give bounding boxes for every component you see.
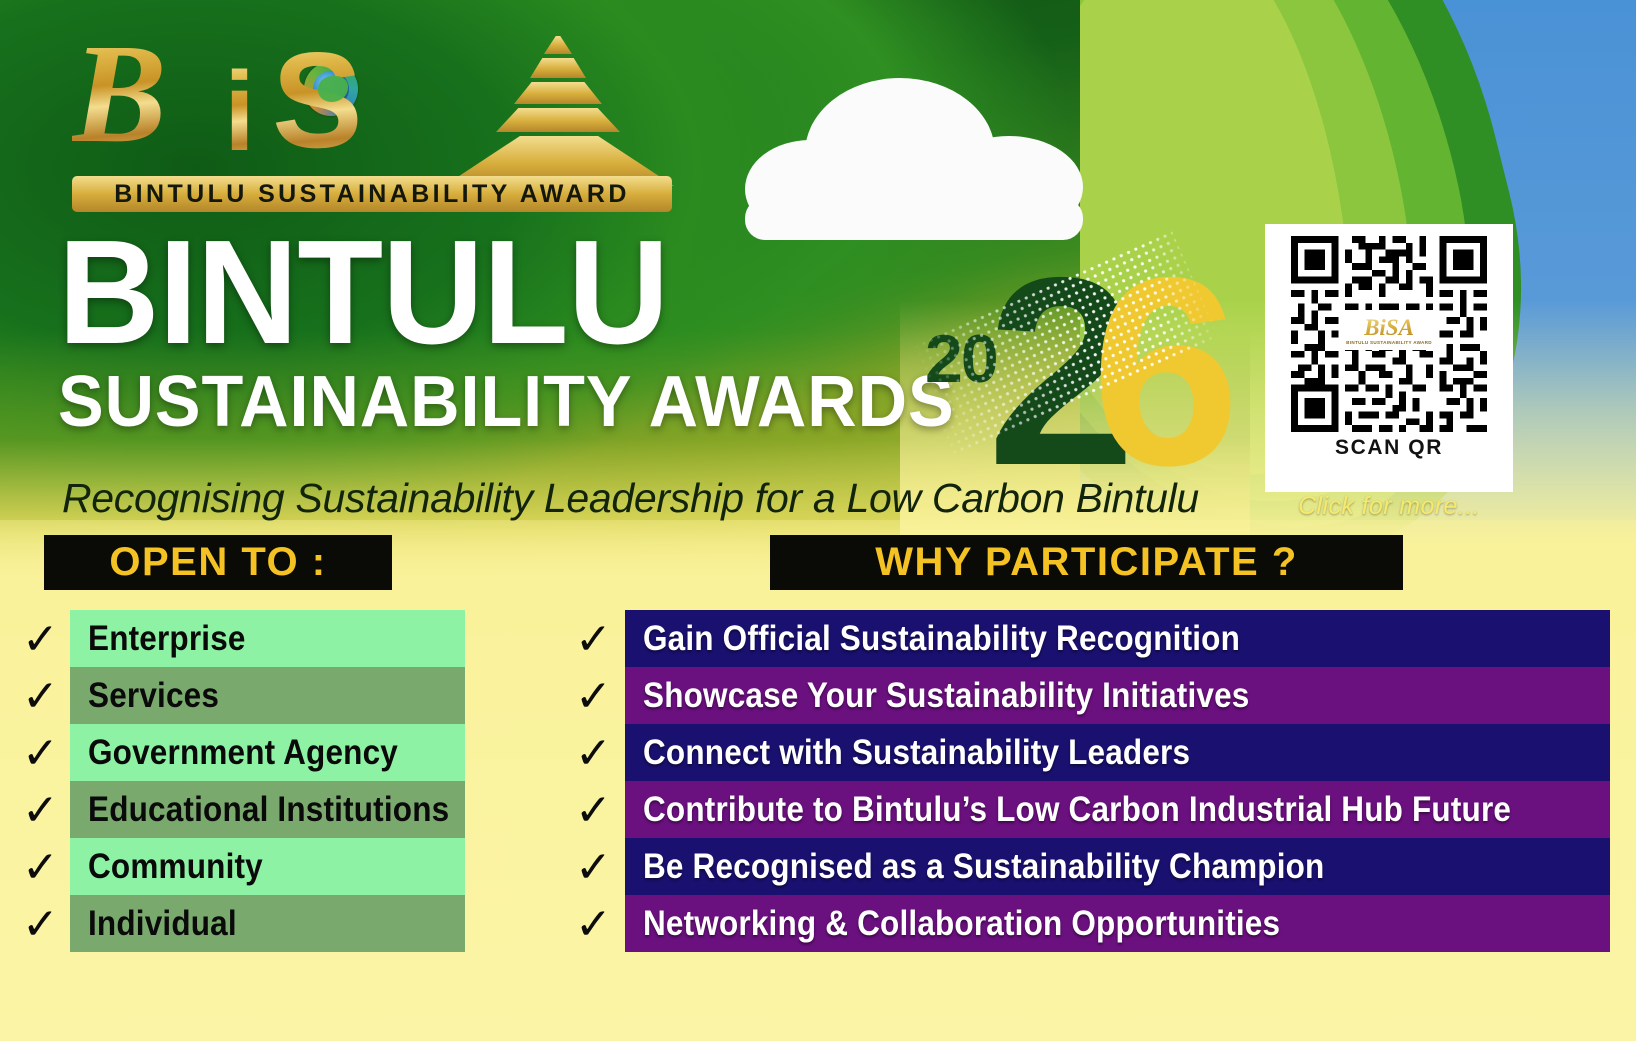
why-participate-item-label: Connect with Sustainability Leaders (643, 733, 1190, 773)
list-item: ✓Community (70, 838, 465, 895)
why-participate-item-label: Gain Official Sustainability Recognition (643, 619, 1240, 659)
list-item: ✓Gain Official Sustainability Recognitio… (625, 610, 1610, 667)
list-item: ✓Be Recognised as a Sustainability Champ… (625, 838, 1610, 895)
open-to-item-label: Educational Institutions (88, 790, 449, 830)
check-icon: ✓ (575, 846, 612, 890)
why-participate-header-bar: WHY PARTICIPATE ? (770, 535, 1403, 590)
logo-letter-s: S (272, 32, 363, 168)
open-to-item-label: Community (88, 847, 263, 887)
why-participate-list: ✓Gain Official Sustainability Recognitio… (625, 610, 1610, 952)
check-icon: ✓ (22, 789, 59, 833)
headline-block: BINTULU SUSTAINABILITY AWARDS Recognisin… (58, 228, 1018, 438)
qr-code-image[interactable]: BiSA BINTULU SUSTAINABILITY AWARD (1286, 236, 1492, 432)
why-participate-item-label: Showcase Your Sustainability Initiatives (643, 676, 1249, 716)
check-icon: ✓ (22, 675, 59, 719)
list-item: ✓Showcase Your Sustainability Initiative… (625, 667, 1610, 724)
poster-root: B i S BINTULU SUSTAINABILITY AWARD BINTU… (0, 0, 1636, 1041)
list-item: ✓Networking & Collaboration Opportunitie… (625, 895, 1610, 952)
open-to-item-label: Individual (88, 904, 237, 944)
list-item: ✓Government Agency (70, 724, 465, 781)
qr-embedded-logo: BiSA BINTULU SUSTAINABILITY AWARD (1343, 310, 1435, 350)
check-icon: ✓ (575, 903, 612, 947)
qr-logo-text: BiSA (1364, 316, 1414, 339)
why-participate-item-label: Networking & Collaboration Opportunities (643, 904, 1280, 944)
cloud-icon (745, 78, 1075, 238)
logo-wordmark-text: BINTULU SUSTAINABILITY AWARD (114, 180, 630, 209)
check-icon: ✓ (575, 789, 612, 833)
logo-letter-b: B (72, 22, 167, 164)
check-icon: ✓ (575, 675, 612, 719)
qr-card[interactable]: BiSA BINTULU SUSTAINABILITY AWARD SCAN Q… (1265, 224, 1513, 492)
why-participate-item-label: Be Recognised as a Sustainability Champi… (643, 847, 1324, 887)
list-item: ✓Individual (70, 895, 465, 952)
list-item: ✓Enterprise (70, 610, 465, 667)
why-participate-header-text: WHY PARTICIPATE ? (875, 540, 1298, 585)
year-prefix: 20 (925, 320, 997, 398)
check-icon: ✓ (22, 732, 59, 776)
list-item: ✓Connect with Sustainability Leaders (625, 724, 1610, 781)
logo-letter-i: i (224, 56, 255, 168)
click-for-more-link[interactable]: Click for more... (1265, 492, 1513, 521)
check-icon: ✓ (22, 618, 59, 662)
year-digit-six: 6 (1091, 237, 1240, 505)
bisa-logo-mark: B i S (72, 26, 672, 166)
check-icon: ✓ (22, 903, 59, 947)
open-to-list: ✓Enterprise✓Services✓Government Agency✓E… (70, 610, 465, 952)
check-icon: ✓ (22, 846, 59, 890)
open-to-item-label: Government Agency (88, 733, 398, 773)
check-icon: ✓ (575, 618, 612, 662)
open-to-header-bar: OPEN TO : (44, 535, 392, 590)
page-subtitle: SUSTAINABILITY AWARDS (58, 366, 970, 438)
why-participate-item-label: Contribute to Bintulu’s Low Carbon Indus… (643, 790, 1511, 830)
page-title: BINTULU (58, 228, 970, 358)
list-item: ✓Educational Institutions (70, 781, 465, 838)
bisa-logo: B i S BINTULU SUSTAINABILITY AWARD (72, 26, 672, 216)
qr-logo-subtext: BINTULU SUSTAINABILITY AWARD (1346, 340, 1432, 345)
list-item: ✓Services (70, 667, 465, 724)
logo-wordmark-bar: BINTULU SUSTAINABILITY AWARD (72, 176, 672, 212)
qr-caption: SCAN QR (1335, 436, 1443, 460)
pyramid-tower-icon (444, 36, 674, 186)
open-to-item-label: Enterprise (88, 619, 246, 659)
list-item: ✓Contribute to Bintulu’s Low Carbon Indu… (625, 781, 1610, 838)
open-to-header-text: OPEN TO : (109, 540, 326, 585)
open-to-item-label: Services (88, 676, 219, 716)
year-badge: 2 6 20 (905, 225, 1215, 515)
check-icon: ✓ (575, 732, 612, 776)
